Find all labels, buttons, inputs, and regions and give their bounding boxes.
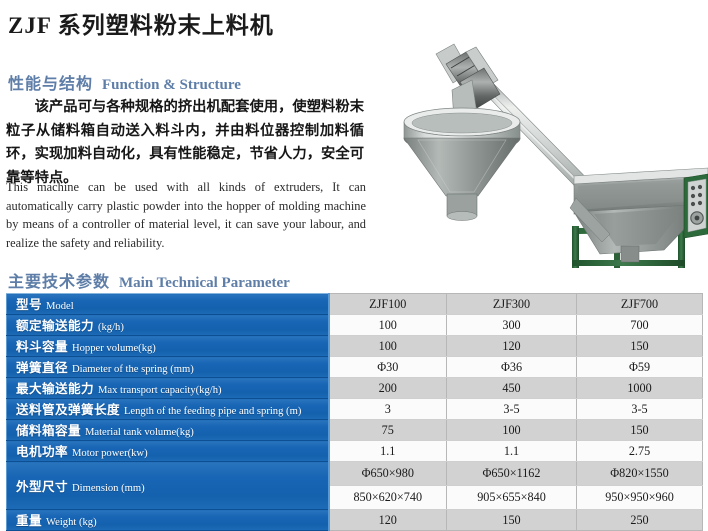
row-label-cn: 送料管及弹簧长度 bbox=[16, 403, 120, 417]
table-header-row: 型号Model ZJF100 ZJF300 ZJF700 bbox=[7, 294, 703, 315]
cell-value: 150 bbox=[447, 510, 577, 531]
row-label-cn: 储料箱容量 bbox=[16, 424, 81, 438]
control-panel[interactable] bbox=[684, 174, 708, 238]
cell-value: 3-5 bbox=[447, 399, 577, 420]
section-heading-main-technical-parameter: 主要技术参数Main Technical Parameter bbox=[8, 268, 290, 292]
table-row: 额定输送能力(kg/h) 100 300 700 bbox=[7, 315, 703, 336]
cell-value: 120 bbox=[447, 336, 577, 357]
row-label-en: Length of the feeding pipe and spring (m… bbox=[124, 406, 301, 417]
table-row: 料斗容量Hopper volume(kg) 100 120 150 bbox=[7, 336, 703, 357]
cell-value: 1.1 bbox=[447, 441, 577, 462]
row-label-en: Material tank volume(kg) bbox=[85, 427, 194, 438]
cell-value: Φ650×1162 bbox=[447, 462, 577, 486]
row-label-cn: 最大输送能力 bbox=[16, 382, 94, 396]
hopper bbox=[404, 108, 520, 221]
row-label-rated-capacity: 额定输送能力(kg/h) bbox=[7, 315, 329, 336]
cell-value: 200 bbox=[329, 378, 447, 399]
table-row-dimension-line1: 外型尺寸Dimension (mm) Φ650×980 Φ650×1162 Φ8… bbox=[7, 462, 703, 486]
section-heading-function-structure: 性能与结构Function & Structure bbox=[8, 70, 241, 94]
cell-value: 250 bbox=[577, 510, 703, 531]
cell-value: 100 bbox=[447, 420, 577, 441]
panel-button-5[interactable] bbox=[691, 202, 695, 206]
page-title: ZJF 系列塑料粉末上料机 bbox=[8, 6, 274, 40]
panel-button-4[interactable] bbox=[698, 193, 702, 197]
table-row: 弹簧直径Diameter of the spring (mm) Φ30 Φ36 … bbox=[7, 357, 703, 378]
row-label-en: Diameter of the spring (mm) bbox=[72, 364, 194, 375]
row-label-en: Dimension (mm) bbox=[72, 483, 145, 494]
section-heading-cn: 性能与结构 bbox=[8, 76, 93, 93]
machine-illustration bbox=[378, 28, 708, 268]
brochure-page: ZJF 系列塑料粉末上料机 性能与结构Function & Structure … bbox=[0, 0, 708, 506]
row-label-cn: 电机功率 bbox=[16, 445, 68, 459]
cell-value: 100 bbox=[329, 336, 447, 357]
row-label-tank-volume: 储料箱容量Material tank volume(kg) bbox=[7, 420, 329, 441]
cell-value: 700 bbox=[577, 315, 703, 336]
panel-button-2[interactable] bbox=[698, 185, 702, 189]
row-label-cn: 外型尺寸 bbox=[16, 480, 68, 494]
section-heading-en: Function & Structure bbox=[102, 77, 241, 93]
specification-table: 型号Model ZJF100 ZJF300 ZJF700 额定输送能力(kg/h… bbox=[6, 293, 703, 531]
cell-value: 1.1 bbox=[329, 441, 447, 462]
table-row: 电机功率Motor power(kw) 1.1 1.1 2.75 bbox=[7, 441, 703, 462]
cell-value: 3-5 bbox=[577, 399, 703, 420]
cell-value: Φ30 bbox=[329, 357, 447, 378]
paragraph-english: This machine can be used with all kinds … bbox=[6, 178, 366, 252]
row-label-cn: 重量 bbox=[16, 514, 42, 528]
row-label-dimension: 外型尺寸Dimension (mm) bbox=[7, 462, 329, 510]
section-heading-en: Main Technical Parameter bbox=[119, 275, 290, 291]
cell-value: Φ59 bbox=[577, 357, 703, 378]
row-label-en: Weight (kg) bbox=[46, 517, 97, 528]
row-label-cn: 料斗容量 bbox=[16, 340, 68, 354]
cell-value: 100 bbox=[329, 315, 447, 336]
cell-value: 75 bbox=[329, 420, 447, 441]
cell-value: Φ650×980 bbox=[329, 462, 447, 486]
table-row-weight: 重量Weight (kg) 120 150 250 bbox=[7, 510, 703, 531]
row-label-motor-power: 电机功率Motor power(kw) bbox=[7, 441, 329, 462]
table-row: 储料箱容量Material tank volume(kg) 75 100 150 bbox=[7, 420, 703, 441]
section-heading-cn: 主要技术参数 bbox=[8, 274, 110, 291]
column-header-model-1: ZJF100 bbox=[329, 294, 447, 315]
cell-value: 1000 bbox=[577, 378, 703, 399]
paragraph-chinese: 该产品可与各种规格的挤出机配套使用，使塑料粉末粒子从储料箱自动送入料斗内，并由料… bbox=[6, 96, 364, 190]
cell-value: 450 bbox=[447, 378, 577, 399]
table-row: 送料管及弹簧长度Length of the feeding pipe and s… bbox=[7, 399, 703, 420]
cell-value: 150 bbox=[577, 336, 703, 357]
row-label-en: Motor power(kw) bbox=[72, 448, 148, 459]
row-label-en: Hopper volume(kg) bbox=[72, 343, 156, 354]
row-label-spring-diameter: 弹簧直径Diameter of the spring (mm) bbox=[7, 357, 329, 378]
row-label-max-capacity: 最大输送能力Max transport capacity(kg/h) bbox=[7, 378, 329, 399]
panel-button-1[interactable] bbox=[691, 186, 695, 190]
panel-button-3[interactable] bbox=[691, 194, 695, 198]
row-label-en: (kg/h) bbox=[98, 322, 124, 333]
machine-photo bbox=[378, 28, 708, 268]
cell-value: 3 bbox=[329, 399, 447, 420]
row-label-model: 型号Model bbox=[7, 294, 329, 315]
column-header-model-2: ZJF300 bbox=[447, 294, 577, 315]
storage-bin-assembly bbox=[570, 168, 708, 268]
cell-value: 300 bbox=[447, 315, 577, 336]
row-label-weight: 重量Weight (kg) bbox=[7, 510, 329, 531]
row-label-cn: 额定输送能力 bbox=[16, 319, 94, 333]
row-label-en: Model bbox=[46, 301, 74, 312]
cell-value: 150 bbox=[577, 420, 703, 441]
row-label-hopper-volume: 料斗容量Hopper volume(kg) bbox=[7, 336, 329, 357]
cell-value: 120 bbox=[329, 510, 447, 531]
row-label-en: Max transport capacity(kg/h) bbox=[98, 385, 222, 396]
column-header-model-3: ZJF700 bbox=[577, 294, 703, 315]
table-row: 最大输送能力Max transport capacity(kg/h) 200 4… bbox=[7, 378, 703, 399]
cell-value: 2.75 bbox=[577, 441, 703, 462]
panel-button-6[interactable] bbox=[698, 201, 702, 205]
row-label-cn: 型号 bbox=[16, 298, 42, 312]
row-label-cn: 弹簧直径 bbox=[16, 361, 68, 375]
row-label-pipe-spring-length: 送料管及弹簧长度Length of the feeding pipe and s… bbox=[7, 399, 329, 420]
cell-value: Φ820×1550 bbox=[577, 462, 703, 486]
cell-value: Φ36 bbox=[447, 357, 577, 378]
